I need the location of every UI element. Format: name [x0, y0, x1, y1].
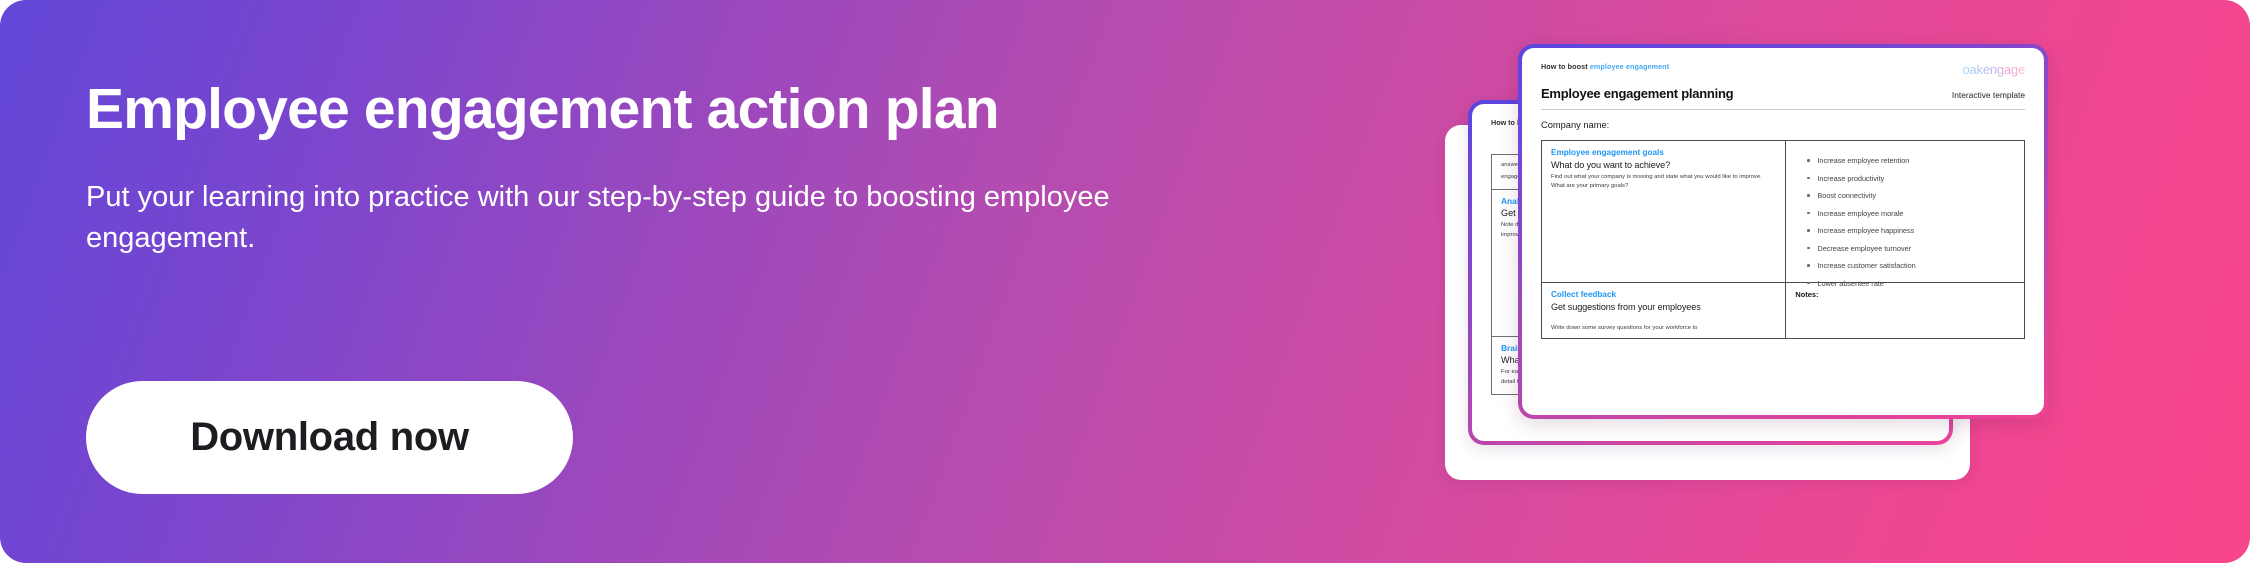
- header-divider: [1541, 109, 2025, 110]
- notes-label: Notes:: [1795, 290, 2015, 299]
- planning-grid: Employee engagement goals What do you wa…: [1541, 140, 2025, 339]
- list-item: Boost connectivity: [1817, 191, 2015, 200]
- banner-copy: Employee engagement action plan Put your…: [86, 78, 1266, 259]
- eyebrow-highlight: employee engagement: [1590, 62, 1669, 71]
- document-kicker: Interactive template: [1952, 90, 2025, 100]
- feedback-question: Get suggestions from your employees: [1551, 302, 1776, 312]
- document-header: How to boost employee engagement oakenga…: [1541, 62, 2025, 77]
- banner-subhead: Put your learning into practice with our…: [86, 177, 1206, 259]
- goals-cell: Employee engagement goals What do you wa…: [1542, 141, 1785, 282]
- notes-cell: Notes:: [1785, 282, 2024, 338]
- list-item: Increase employee morale: [1817, 209, 2015, 218]
- list-item: Increase productivity: [1817, 174, 2015, 183]
- page-title: Employee engagement action plan: [86, 78, 1266, 142]
- download-now-button[interactable]: Download now: [86, 381, 573, 494]
- feedback-body: Write down some survey questions for you…: [1551, 324, 1776, 333]
- list-item: Increase employee happiness: [1817, 226, 2015, 235]
- list-item: Increase customer satisfaction: [1817, 261, 2015, 270]
- document-title: Employee engagement planning: [1541, 86, 1733, 101]
- goals-body: Find out what your company is missing an…: [1551, 173, 1776, 191]
- document-card-front[interactable]: How to boost employee engagement oakenga…: [1518, 44, 2048, 419]
- goals-heading: Employee engagement goals: [1551, 148, 1776, 157]
- list-item: Increase employee retention: [1817, 156, 2015, 165]
- goals-bullets-cell: Increase employee retention Increase pro…: [1785, 141, 2024, 282]
- document-title-row: Employee engagement planning Interactive…: [1541, 86, 2025, 101]
- goals-question: What do you want to achieve?: [1551, 160, 1776, 170]
- oakengage-logo: oakengage: [1962, 62, 2025, 77]
- template-preview-stack: How to b answer engage Analy Get su Note…: [1440, 20, 2230, 563]
- goal-bullet-list: Increase employee retention Increase pro…: [1795, 148, 2015, 288]
- company-name-label: Company name:: [1541, 120, 2025, 130]
- feedback-cell: Collect feedback Get suggestions from yo…: [1542, 282, 1785, 338]
- list-item: Decrease employee turnover: [1817, 244, 2015, 253]
- promo-banner: Employee engagement action plan Put your…: [0, 0, 2250, 563]
- eyebrow-prefix: How to boost: [1541, 62, 1590, 71]
- list-item: Lower absentee rate: [1817, 279, 2015, 288]
- document-eyebrow: How to boost employee engagement: [1541, 62, 1669, 71]
- feedback-heading: Collect feedback: [1551, 290, 1776, 299]
